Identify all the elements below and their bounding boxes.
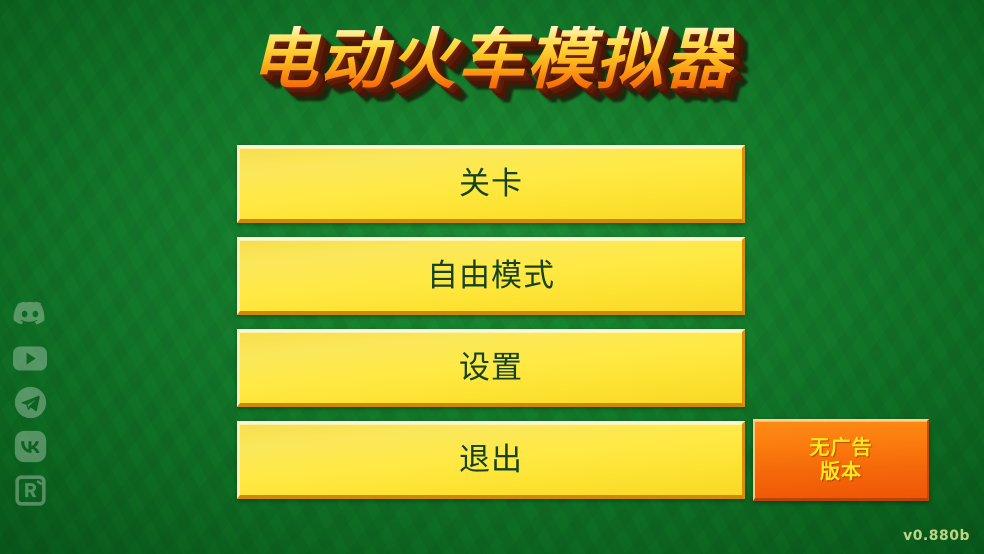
social-links-rail [11,296,53,508]
main-menu: 关卡 自由模式 设置 退出 [237,145,745,513]
rustore-icon[interactable] [11,472,49,508]
no-ads-version-button[interactable]: 无广告 版本 [753,419,929,501]
discord-icon[interactable] [11,296,49,332]
game-title: 电动火车模拟器 [251,26,734,93]
no-ads-line-2: 版本 [820,461,862,483]
menu-button-levels-label: 关卡 [240,148,742,220]
menu-button-exit[interactable]: 退出 [237,421,745,499]
no-ads-line-1: 无广告 [810,437,873,459]
telegram-icon[interactable] [11,384,49,420]
menu-button-settings[interactable]: 设置 [237,329,745,407]
version-label: v0.880b [903,528,970,544]
game-main-menu-screen: 电动火车模拟器 关卡 自由模式 设置 退出 无广告 版本 [0,0,984,554]
title-container: 电动火车模拟器 [0,26,984,93]
menu-button-settings-label: 设置 [240,332,742,404]
youtube-icon[interactable] [11,340,49,376]
menu-button-exit-label: 退出 [240,424,742,496]
menu-button-free-mode-label: 自由模式 [240,240,742,312]
menu-button-levels[interactable]: 关卡 [237,145,745,223]
vk-icon[interactable] [11,428,49,464]
menu-button-free-mode[interactable]: 自由模式 [237,237,745,315]
